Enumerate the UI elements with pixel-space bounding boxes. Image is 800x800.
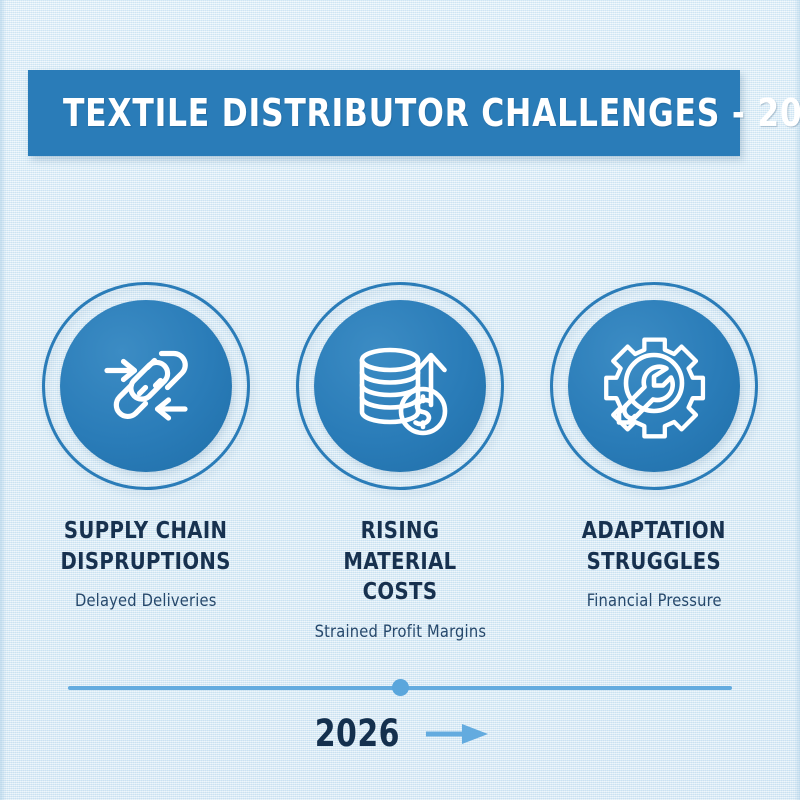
card-title-material-costs: RISING MATERIAL COSTS [305,516,495,608]
icon-badge-supply-chain [42,282,250,490]
card-subtitle-supply-chain: Delayed Deliveries [75,591,217,611]
page-title: TEXTILE DISTRIBUTOR CHALLENGES - 2026 [28,91,800,135]
title-banner: TEXTILE DISTRIBUTOR CHALLENGES - 2026 [28,70,740,156]
icon-badge-adaptation [550,282,758,490]
timeline-track [0,678,800,698]
rising-coin-stack-dollar-icon [341,327,459,445]
card-title-line1: ADAPTATION [582,518,726,544]
icon-badge-material-costs [296,282,504,490]
challenge-card-supply-chain[interactable]: SUPPLY CHAIN DISPRUPTIONS Delayed Delive… [46,282,246,642]
card-title-line1: SUPPLY CHAIN [64,518,228,544]
broken-chain-link-icon [87,327,205,445]
card-title-line2: STRUGGLES [582,547,726,578]
icon-badge-fill [60,300,232,472]
challenge-card-adaptation[interactable]: ADAPTATION STRUGGLES Financial Pressure [554,282,754,642]
card-title-line1: RISING [361,518,440,544]
card-title-adaptation: ADAPTATION STRUGGLES [582,516,726,577]
icon-badge-fill [568,300,740,472]
gear-wrench-icon [595,327,713,445]
timeline-footer: 2026 [0,712,800,755]
challenge-card-material-costs[interactable]: RISING MATERIAL COSTS Strained Profit Ma… [300,282,500,642]
infographic-canvas: TEXTILE DISTRIBUTOR CHALLENGES - 2026 [0,0,800,800]
card-title-line2: MATERIAL COSTS [305,547,495,608]
card-subtitle-material-costs: Strained Profit Margins [314,622,486,642]
timeline-dot-icon[interactable] [392,679,409,696]
card-subtitle-adaptation: Financial Pressure [587,591,722,611]
icon-badge-fill [314,300,486,472]
card-title-supply-chain: SUPPLY CHAIN DISPRUPTIONS [61,516,231,577]
timeline-year-label: 2026 [314,712,399,755]
card-title-line2: DISPRUPTIONS [61,547,231,578]
challenge-cards-row: SUPPLY CHAIN DISPRUPTIONS Delayed Delive… [0,282,800,642]
arrow-right-icon [424,721,490,747]
